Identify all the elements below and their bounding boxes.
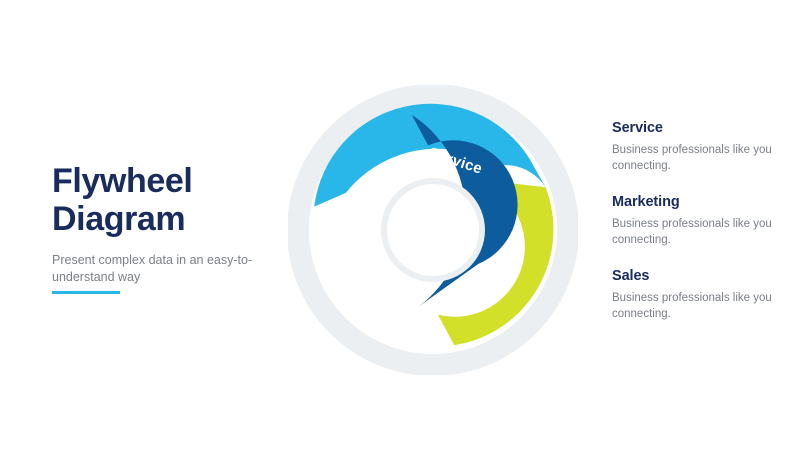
list-item: Sales Business professionals like you co… [612,268,772,322]
segment-label-sales: Sales [351,230,368,271]
list-item-body: Business professionals like you connecti… [612,142,772,174]
title-line-2: Diagram [52,200,185,238]
accent-bar [52,291,120,294]
list-item-title: Service [612,120,772,136]
list-item-body: Business professionals like you connecti… [612,216,772,248]
hub-center [387,184,479,276]
list-item-title: Marketing [612,194,772,210]
title-line-1: Flywheel [52,162,192,200]
list-item: Service Business professionals like you … [612,120,772,174]
page-title: Flywheel Diagram [52,162,267,238]
subtitle-text: Present complex data in an easy-to-under… [52,252,267,286]
flywheel-svg: Service Marketing Sales [288,85,578,375]
flywheel-diagram: Service Marketing Sales [288,85,578,375]
slide-canvas: Flywheel Diagram Present complex data in… [0,0,800,450]
list-item: Marketing Business professionals like yo… [612,194,772,248]
title-block: Flywheel Diagram Present complex data in… [52,162,267,286]
list-item-title: Sales [612,268,772,284]
legend-list: Service Business professionals like you … [612,120,772,322]
list-item-body: Business professionals like you connecti… [612,290,772,322]
